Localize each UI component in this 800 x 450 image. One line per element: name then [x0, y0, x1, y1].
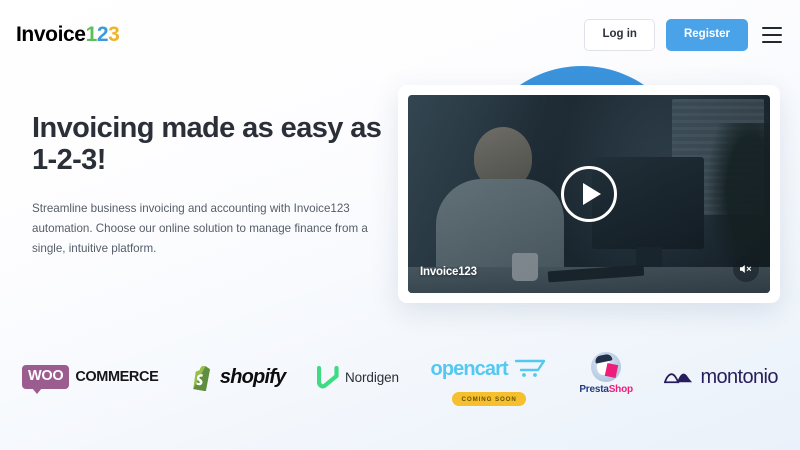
partner-prestashop[interactable]: PrestaShop	[579, 352, 633, 395]
shopify-label: shopify	[220, 366, 286, 389]
woocommerce-badge: WOO	[22, 365, 69, 389]
mute-speaker-icon[interactable]	[733, 256, 759, 282]
hamburger-bar-2	[762, 34, 782, 36]
partner-montonio[interactable]: montonio	[664, 352, 777, 394]
partner-shopify[interactable]: shopify	[190, 352, 286, 394]
montonio-logo: montonio	[664, 360, 777, 394]
montonio-mountains-icon	[664, 369, 694, 385]
woocommerce-logo: WOO COMMERCE	[22, 360, 158, 394]
hamburger-bar-1	[762, 27, 782, 29]
nordigen-logo: Nordigen	[317, 360, 399, 394]
brand-logo[interactable]: Invoice123	[16, 23, 119, 47]
video-watermark: Invoice123	[420, 266, 477, 278]
register-button[interactable]: Register	[666, 19, 748, 51]
play-icon[interactable]	[561, 166, 617, 222]
shopify-logo: shopify	[190, 360, 286, 394]
mute-glyph	[739, 263, 753, 275]
video-card: Invoice123	[398, 85, 780, 303]
coming-soon-badge: COMING SOON	[452, 392, 525, 406]
hamburger-bar-3	[762, 41, 782, 43]
login-button[interactable]: Log in	[584, 19, 655, 51]
brand-logo-digit-3: 3	[108, 23, 119, 47]
partner-logos: WOO COMMERCE shopify Nordigen opencart	[0, 352, 800, 422]
hero-copy: Invoicing made as easy as 1-2-3! Streaml…	[32, 112, 392, 259]
play-triangle	[583, 183, 601, 205]
site-header: Invoice123 Log in Register	[0, 0, 800, 70]
prestashop-label-part2: Shop	[609, 384, 633, 395]
hero-subtitle: Streamline business invoicing and accoun…	[32, 199, 372, 259]
page-title: Invoicing made as easy as 1-2-3!	[32, 112, 384, 177]
partner-woocommerce[interactable]: WOO COMMERCE	[22, 352, 158, 394]
brand-logo-digit-1: 1	[86, 23, 97, 47]
partner-nordigen[interactable]: Nordigen	[317, 352, 399, 394]
prestashop-bag	[605, 363, 618, 378]
woocommerce-label: COMMERCE	[75, 369, 158, 385]
montonio-label: montonio	[700, 366, 777, 389]
brand-logo-word: Invoice	[16, 23, 86, 47]
prestashop-label-part1: Presta	[579, 384, 608, 395]
opencart-logo: opencart	[431, 352, 548, 386]
opencart-cart-icon	[514, 358, 548, 380]
hero-video-area: Invoice123	[393, 62, 788, 327]
video-player[interactable]: Invoice123	[408, 95, 770, 293]
header-actions: Log in Register	[584, 19, 782, 51]
brand-logo-digit-2: 2	[97, 23, 108, 47]
nordigen-label: Nordigen	[345, 370, 399, 385]
partner-opencart[interactable]: opencart COMING SOON	[431, 352, 548, 406]
shopify-bag-icon	[190, 363, 214, 391]
opencart-label: opencart	[431, 358, 508, 381]
prestashop-logo-icon	[591, 352, 621, 382]
prestashop-label: PrestaShop	[579, 384, 633, 395]
hamburger-menu-icon[interactable]	[762, 27, 782, 43]
nordigen-n-icon	[317, 365, 339, 389]
